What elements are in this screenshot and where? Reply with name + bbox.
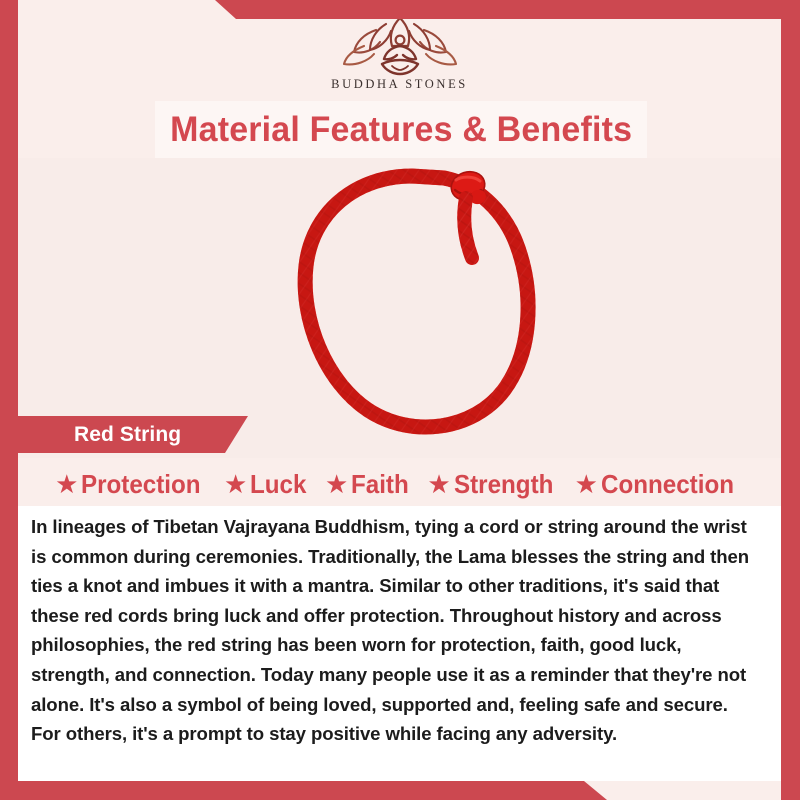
feature-item-connection: ★ Connection [575,469,744,500]
star-icon: ★ [224,471,247,497]
features-row: ★ Protection ★ Luck ★ Faith ★ Strength ★… [18,463,781,505]
frame-bottom-bar [0,781,800,800]
star-icon: ★ [575,471,598,497]
star-icon: ★ [427,471,450,497]
frame-left-bar [0,0,18,800]
description-panel: In lineages of Tibetan Vajrayana Buddhis… [18,506,781,781]
feature-item-protection: ★ Protection [55,469,210,500]
product-tag-label: Red String [18,423,181,447]
feature-item-strength: ★ Strength [427,469,560,500]
title-banner: Material Features & Benefits [155,101,647,158]
star-icon: ★ [325,471,348,497]
feature-label: Protection [81,469,201,500]
red-braided-string-bracelet-graphic [216,158,616,458]
frame-right-bar [781,0,800,800]
product-image [18,158,781,458]
feature-label: Luck [250,469,306,500]
star-icon: ★ [55,471,78,497]
poster-root: BUDDHA STONES Material Features & Benefi… [0,0,800,800]
product-tag-banner: Red String [18,416,248,453]
feature-item-luck: ★ Luck [224,469,311,500]
feature-item-faith: ★ Faith [325,469,413,500]
brand-logo: BUDDHA STONES [331,14,468,92]
feature-label: Strength [454,469,553,500]
lotus-meditation-icon [334,14,466,76]
feature-label: Connection [601,469,734,500]
brand-name: BUDDHA STONES [331,77,468,92]
page-title: Material Features & Benefits [170,110,632,150]
feature-label: Faith [351,469,409,500]
description-text: In lineages of Tibetan Vajrayana Buddhis… [31,512,759,749]
